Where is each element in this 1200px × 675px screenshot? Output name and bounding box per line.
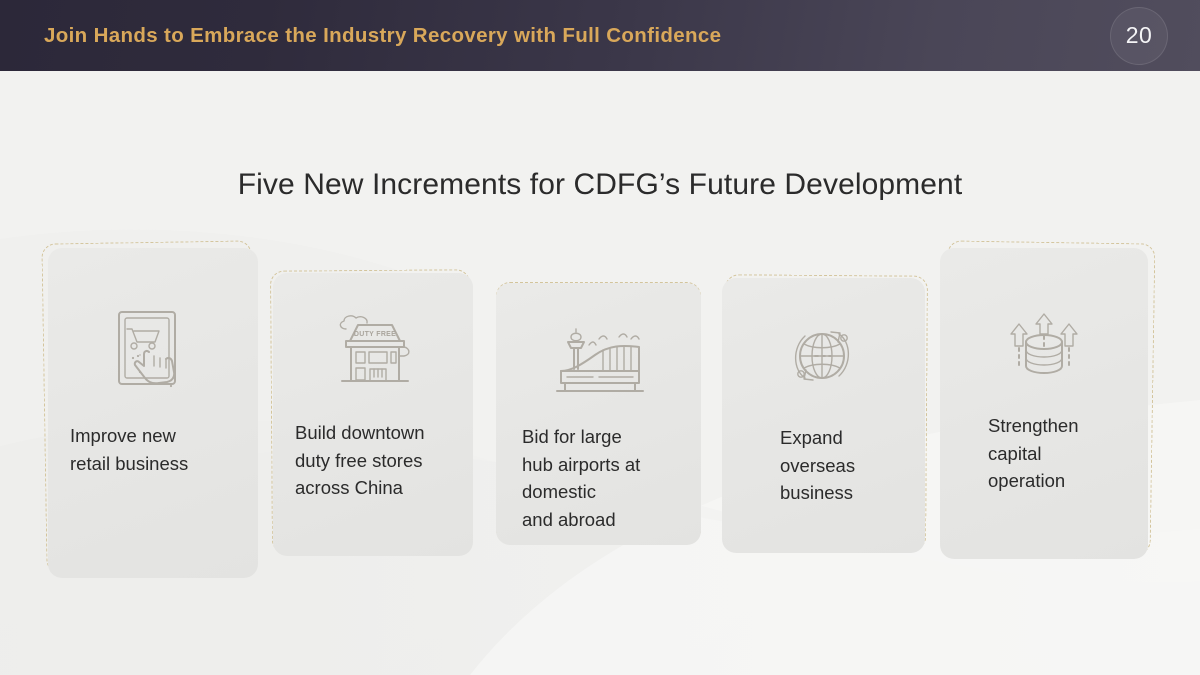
page-number-badge: 20 bbox=[1110, 7, 1168, 65]
card-label: Expand overseas business bbox=[722, 396, 855, 507]
card-bid-hub-airports[interactable]: Bid for large hub airports at domestic a… bbox=[496, 283, 701, 545]
coin-stack-growth-icon bbox=[940, 248, 1148, 384]
card-label: Strengthen capital operation bbox=[940, 384, 1079, 495]
card-expand-overseas-business[interactable]: Expand overseas business bbox=[722, 278, 925, 553]
duty-free-sign-text: DUTY FREE bbox=[354, 331, 396, 338]
page-number: 20 bbox=[1126, 22, 1153, 49]
increment-cards-row: Improve new retail business DUTY FREE bbox=[0, 0, 1200, 675]
card-improve-new-retail[interactable]: Improve new retail business bbox=[48, 248, 258, 578]
card-label: Improve new retail business bbox=[48, 392, 188, 477]
globe-network-icon bbox=[722, 278, 925, 396]
airport-terminal-icon bbox=[496, 283, 701, 397]
header-title: Join Hands to Embrace the Industry Recov… bbox=[44, 24, 721, 48]
slide: Join Hands to Embrace the Industry Recov… bbox=[0, 0, 1200, 675]
card-build-downtown-duty-free[interactable]: DUTY FREE Build downtown duty free store… bbox=[273, 273, 473, 556]
page-title: Five New Increments for CDFG’s Future De… bbox=[0, 168, 1200, 202]
duty-free-store-icon: DUTY FREE bbox=[273, 273, 473, 391]
card-label: Bid for large hub airports at domestic a… bbox=[496, 397, 640, 533]
slide-header: Join Hands to Embrace the Industry Recov… bbox=[0, 0, 1200, 71]
card-label: Build downtown duty free stores across C… bbox=[273, 391, 425, 502]
card-strengthen-capital-operation[interactable]: Strengthen capital operation bbox=[940, 248, 1148, 559]
mobile-shopping-cart-icon bbox=[48, 248, 258, 392]
